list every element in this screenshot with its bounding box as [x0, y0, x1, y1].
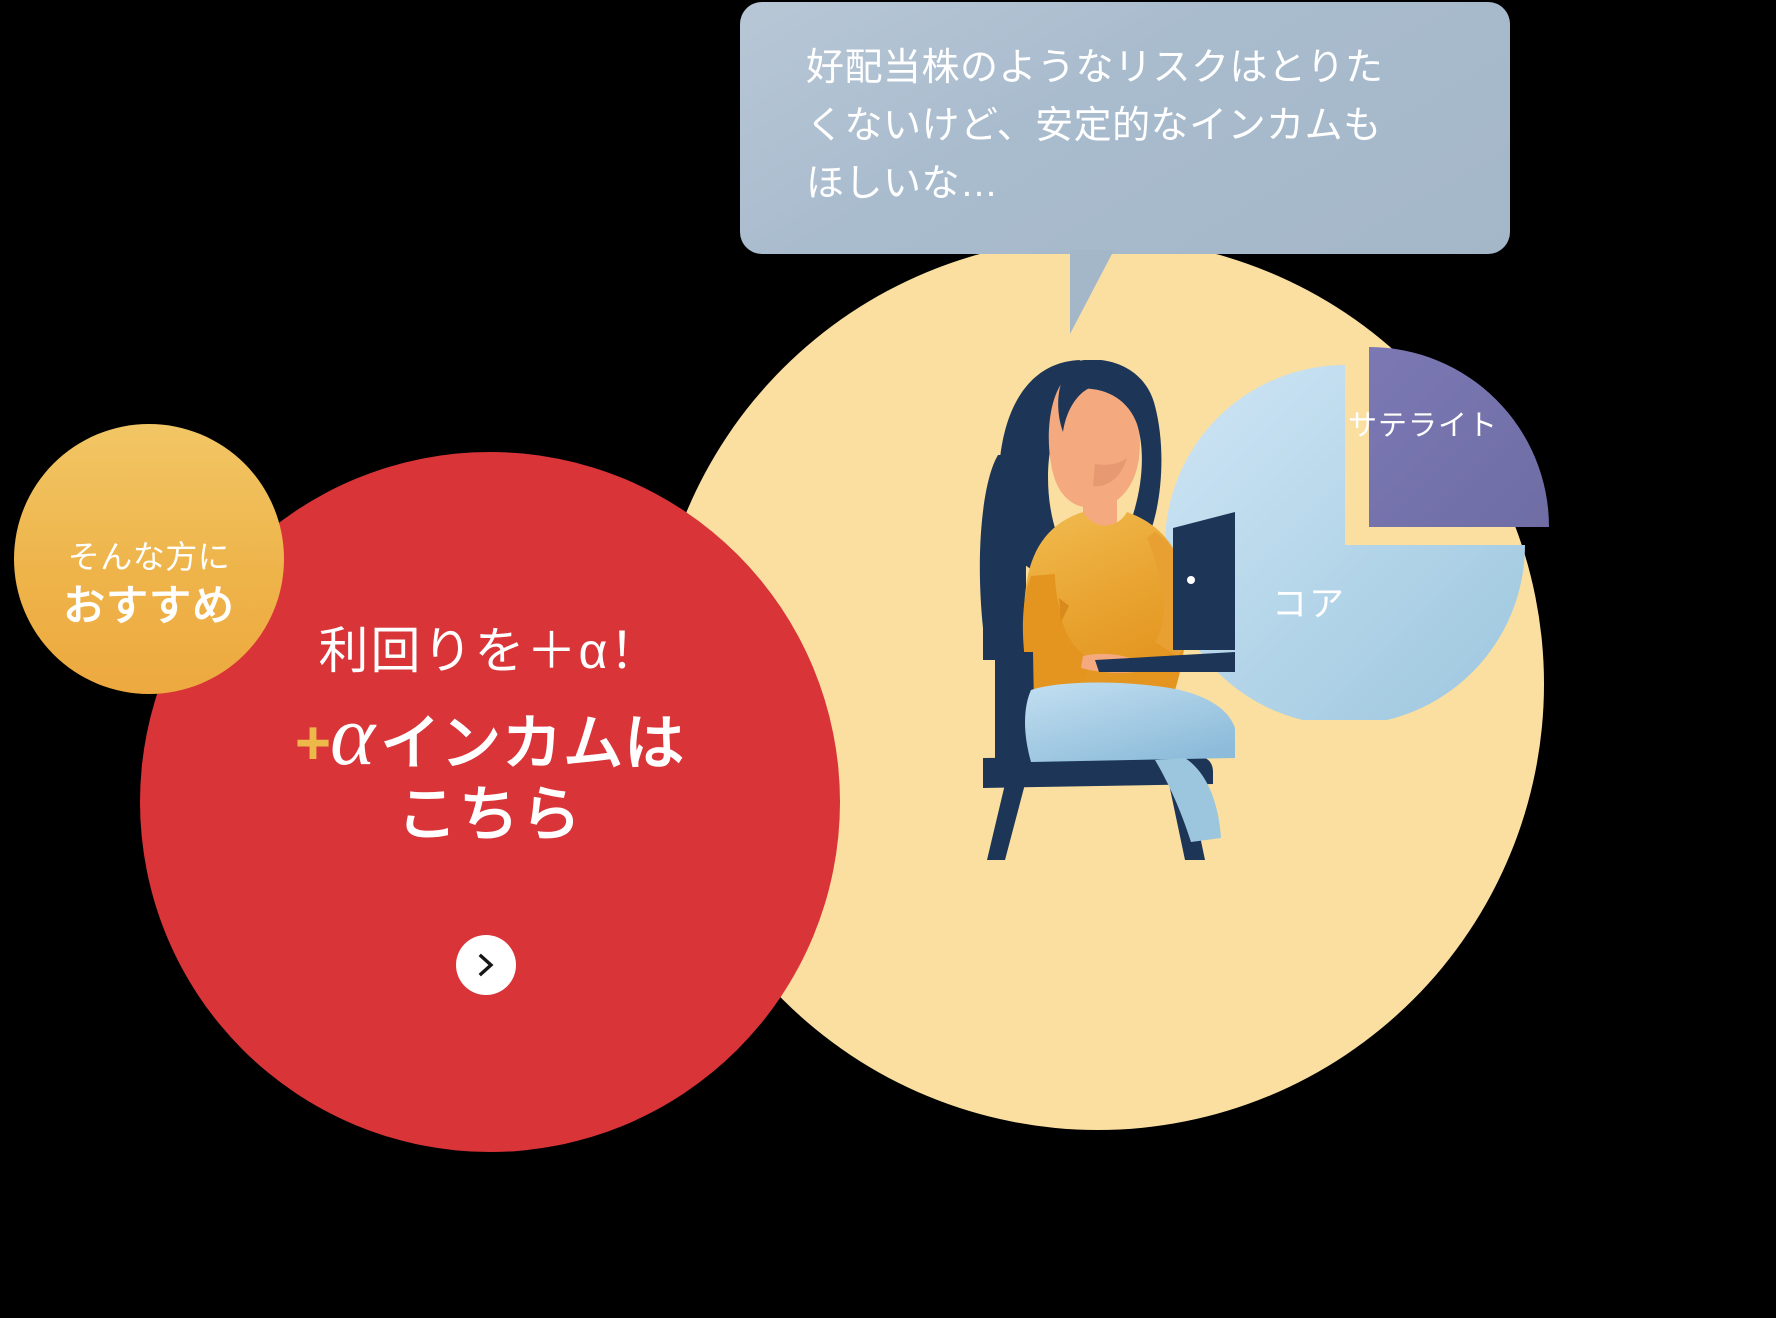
laptop-camera-dot [1187, 576, 1195, 584]
cta-alpha-symbol: α [330, 701, 376, 770]
recommend-line2: おすすめ [63, 580, 235, 633]
person-svg [855, 360, 1235, 860]
cta-product-rest: インカムは [380, 712, 685, 775]
pie-label-satellite: サテライト [1348, 402, 1498, 444]
poster-canvas: サテライト コア [0, 0, 1776, 1318]
cta-line3: こちら [397, 782, 583, 848]
cta-plus-symbol: + [295, 711, 332, 776]
laptop-screen [1173, 512, 1235, 650]
thought-bubble-text: 好配当株のようなリスクはとりた くないけど、安定的なインカムも ほしいな… [806, 40, 1456, 213]
recommend-line1: そんな方に [68, 538, 231, 576]
chair-leg-left [987, 784, 1025, 860]
recommend-bubble-text: そんな方に おすすめ [14, 424, 284, 694]
cta-product-name: + α インカムは [295, 701, 685, 776]
pie-label-core: コア [1272, 576, 1346, 627]
cta-arrow-button[interactable] [456, 935, 516, 995]
pants-thigh [1025, 683, 1235, 762]
thought-bubble: 好配当株のようなリスクはとりた くないけど、安定的なインカムも ほしいな… [740, 2, 1510, 254]
chevron-right-icon [474, 952, 498, 978]
cta-headline: 利回りを＋α！ [319, 624, 662, 679]
thought-bubble-tail [1070, 250, 1164, 334]
woman-with-laptop-illustration [855, 360, 1235, 860]
